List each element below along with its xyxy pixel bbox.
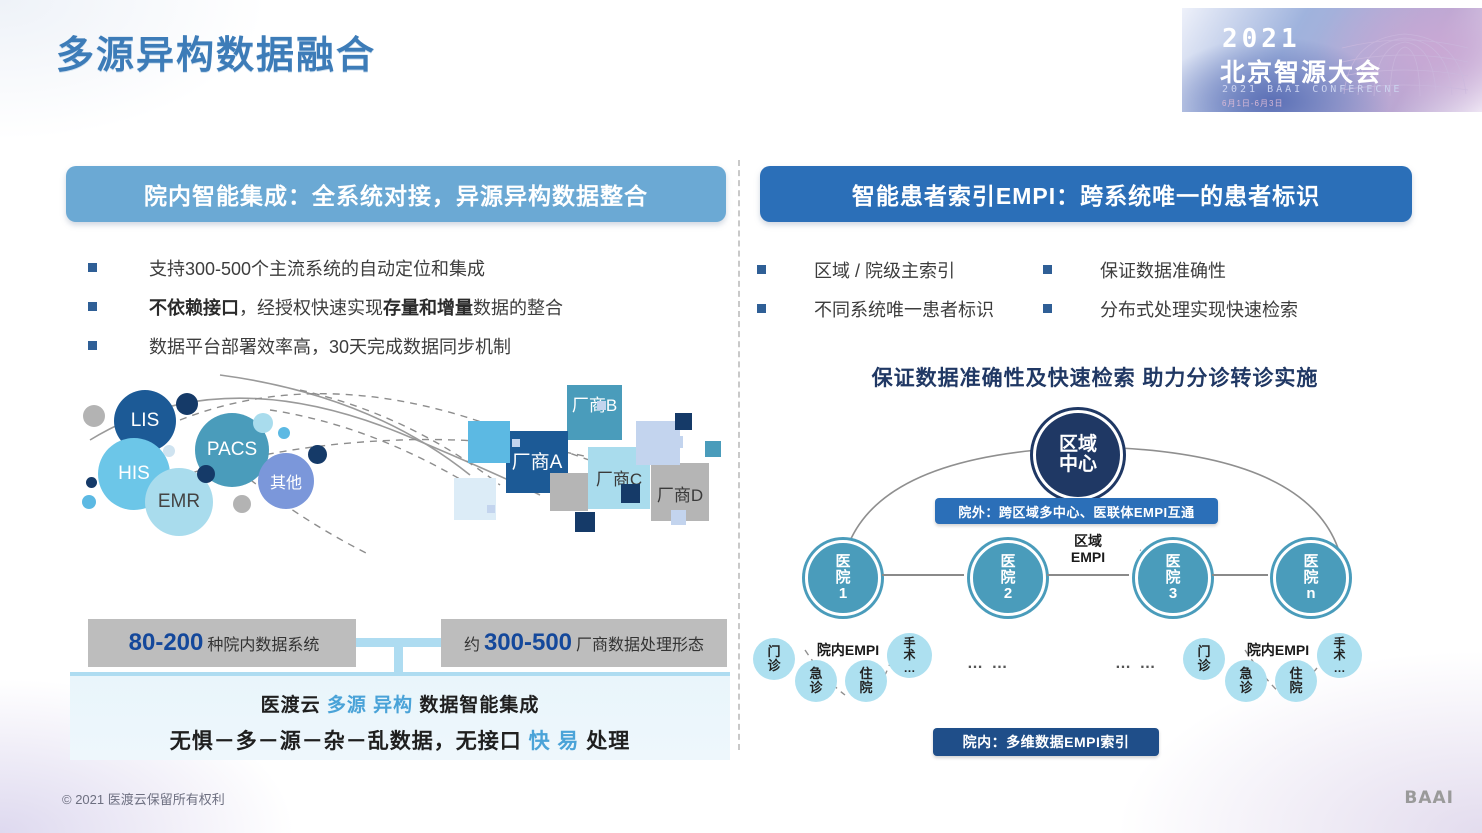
decor-square [671,510,686,525]
baai-logo: BAAI [1404,788,1454,808]
decor-bubble [253,413,273,433]
hospital-line1: 医 [1165,554,1180,570]
sub-node-line3: … [1334,662,1346,675]
hospital-link-2-3 [1047,574,1129,576]
bullet-text: 分布式处理实现快速检索 [1100,296,1298,322]
right-bullet-list-col2: 保证数据准确性 分布式处理实现快速检索 [1043,257,1298,335]
summary-highlight: 异构 [373,695,413,716]
hospital-line1: 医 [1303,554,1318,570]
conference-english-name: 2021 BAAI CONFERECNE [1222,84,1402,95]
list-item: 不同系统唯一患者标识 [757,296,994,322]
hospital-line3: 1 [839,586,847,602]
sub-node-line1: 住 [859,667,872,681]
hospital-link-1-2 [882,574,964,576]
hospital-line1: 医 [1000,554,1015,570]
decor-square [550,473,588,511]
sub-node-emergency-left: 急 诊 [795,660,837,702]
sub-node-line2: 诊 [1197,659,1210,673]
bullet-text: 不依赖接口，经授权快速实现存量和增量数据的整合 [149,294,563,320]
bullet-square-icon [88,302,97,311]
bullet-square-icon [88,341,97,350]
left-summary-panel: 医渡云 多源 异构 数据智能集成 无惧－多－源－杂－乱数据，无接口 快 易 处理 [70,672,730,760]
decor-square [487,505,495,513]
summary-text: 处理 [579,730,630,753]
sub-node-outpatient-right: 门 诊 [1183,638,1225,680]
sub-node-line1: 住 [1289,667,1302,681]
stat-connector-vertical [394,638,403,674]
bubble-other: 其他 [258,453,314,509]
stat-text: 厂商数据处理形态 [576,631,704,655]
hospital-line2: 院 [835,570,850,586]
region-empi-label: 区域EMPI [1048,533,1128,565]
list-item: 支持300-500个主流系统的自动定位和集成 [88,255,563,281]
center-node-line1: 区域 [1059,435,1097,455]
sub-node-line1: 急 [809,667,822,681]
decor-square [454,478,496,520]
hospital-node-n: 医 院 n [1273,540,1349,616]
conference-date: 6月1日-6月3日 [1222,98,1283,109]
label-inner-empi: 院内：多维数据EMPI索引 [933,728,1159,756]
decor-square [671,436,683,448]
sub-node-inpatient-right: 住 院 [1275,660,1317,702]
sub-node-line2: 诊 [767,659,780,673]
square-label: 厂商D [657,481,703,506]
right-section-banner: 智能患者索引EMPI：跨系统唯一的患者标识 [760,166,1412,222]
decor-square [512,439,520,447]
decor-bubble [233,495,251,513]
sub-node-surgery-right: 手 术 … [1317,633,1362,678]
hospital-line3: n [1306,586,1315,602]
decor-square [621,484,640,503]
sub-node-inpatient-left: 住 院 [845,660,887,702]
decor-bubble [176,393,198,415]
hospital-node-2: 医 院 2 [970,540,1046,616]
sub-node-line2: 院 [859,681,872,695]
stat-number: 80-200 [129,629,204,657]
copyright-text: © 2021 医渡云保留所有权利 [62,789,225,808]
sub-node-surgery-left: 手 术 … [887,633,932,678]
hospital-node-3: 医 院 3 [1135,540,1211,616]
bubble-label: PACS [207,439,257,461]
decor-square [705,441,721,457]
summary-line-1: 医渡云 多源 异构 数据智能集成 [70,690,730,717]
sub-node-line1: 急 [1239,667,1252,681]
decor-square [675,413,692,430]
decor-bubble [86,477,97,488]
square-vendor-b: 厂商B [567,385,622,440]
bullet-square-icon [757,265,766,274]
sub-node-line1: 门 [767,645,780,659]
sub-node-line2: 术 [903,649,915,662]
decor-bubble [197,465,215,483]
sub-node-line3: … [904,662,916,675]
square-label: 厂商A [512,447,563,474]
list-item: 区域 / 院级主索引 [757,257,994,283]
bubble-label: 其他 [270,469,302,493]
right-bullet-list-col1: 区域 / 院级主索引 不同系统唯一患者标识 [757,257,994,335]
hospital-line2: 院 [1000,570,1015,586]
list-item: 不依赖接口，经授权快速实现存量和增量数据的整合 [88,294,563,320]
bullet-plain-2: 数据的整合 [473,298,563,318]
summary-text: 数据智能集成 [413,695,539,716]
bullet-square-icon [1043,304,1052,313]
stat-text: 种院内数据系统 [207,631,319,655]
bullet-square-icon [88,263,97,272]
square-label: 厂商B [572,391,617,416]
summary-highlight: 多源 [327,695,367,716]
ellipsis-left: … … [967,655,1009,673]
sub-node-line2: 诊 [809,681,822,695]
summary-text: 医渡云 [261,695,327,716]
center-node-region: 区域 中心 [1033,410,1123,500]
hospital-line2: 院 [1165,570,1180,586]
hospital-line3: 3 [1169,586,1177,602]
stat-box-hospital-systems: 80-200种院内数据系统 [88,619,356,667]
ellipsis-right: … … [1115,655,1157,673]
sub-node-line2: 院 [1289,681,1302,695]
column-divider [738,160,740,750]
bullet-text: 保证数据准确性 [1100,257,1226,283]
summary-highlight: 易 [557,730,579,753]
decor-square [468,421,510,463]
decor-square [575,512,595,532]
right-empi-diagram: 保证数据准确性及快速检索 助力分诊转诊实施 区域 中心 院外：跨区域多中心、医联… [745,350,1445,770]
sub-node-line1: 门 [1197,645,1210,659]
hospital-line1: 医 [835,554,850,570]
page-title: 多源异构数据融合 [56,24,376,79]
decor-bubble [308,445,327,464]
conference-logo: 2021 北京智源大会 2021 BAAI CONFERECNE 6月1日-6月… [1182,8,1482,112]
stat-prefix: 约 [464,631,480,655]
bullet-square-icon [1043,265,1052,274]
bullet-text: 区域 / 院级主索引 [814,257,955,283]
region-empi-line1: 区域 [1074,533,1102,549]
decor-bubble [82,495,96,509]
summary-line-2: 无惧－多－源－杂－乱数据，无接口 快 易 处理 [70,725,730,755]
hospital-link-3-n [1212,574,1268,576]
sub-node-line2: 术 [1333,649,1345,662]
list-item: 保证数据准确性 [1043,257,1298,283]
decor-square [597,401,606,410]
bubble-label: EMR [158,491,200,513]
left-section-banner: 院内智能集成：全系统对接，异源异构数据整合 [66,166,726,222]
conference-year: 2021 [1222,24,1301,54]
decor-bubble [278,427,290,439]
stat-box-vendor-formats: 约300-500厂商数据处理形态 [441,619,727,667]
sub-node-line2: 诊 [1239,681,1252,695]
bullet-bold-2: 存量和增量 [383,298,473,318]
center-node-line2: 中心 [1059,455,1097,475]
bullet-text: 支持300-500个主流系统的自动定位和集成 [149,255,485,281]
bullet-plain-1: ，经授权快速实现 [239,298,383,318]
bubble-label: HIS [118,463,150,485]
left-integration-diagram: LIS HIS PACS EMR 其他 厂商B 厂商A 厂商C 厂商D [70,355,730,615]
bullet-bold-1: 不依赖接口 [149,298,239,318]
sub-node-emergency-right: 急 诊 [1225,660,1267,702]
sub-node-outpatient-left: 门 诊 [753,638,795,680]
bubble-label: LIS [131,410,160,432]
summary-text: 无惧－多－源－杂－乱数据，无接口 [170,730,529,753]
label-outer-empi: 院外：跨区域多中心、医联体EMPI互通 [935,498,1218,524]
bullet-text: 不同系统唯一患者标识 [814,296,994,322]
region-empi-line2: EMPI [1071,549,1105,565]
stat-number: 300-500 [484,629,572,657]
decor-bubble [163,445,175,457]
summary-highlight: 快 [529,730,551,753]
decor-bubble [83,405,105,427]
list-item: 分布式处理实现快速检索 [1043,296,1298,322]
hospital-node-1: 医 院 1 [805,540,881,616]
hospital-line3: 2 [1004,586,1012,602]
hospital-line2: 院 [1303,570,1318,586]
bullet-square-icon [757,304,766,313]
